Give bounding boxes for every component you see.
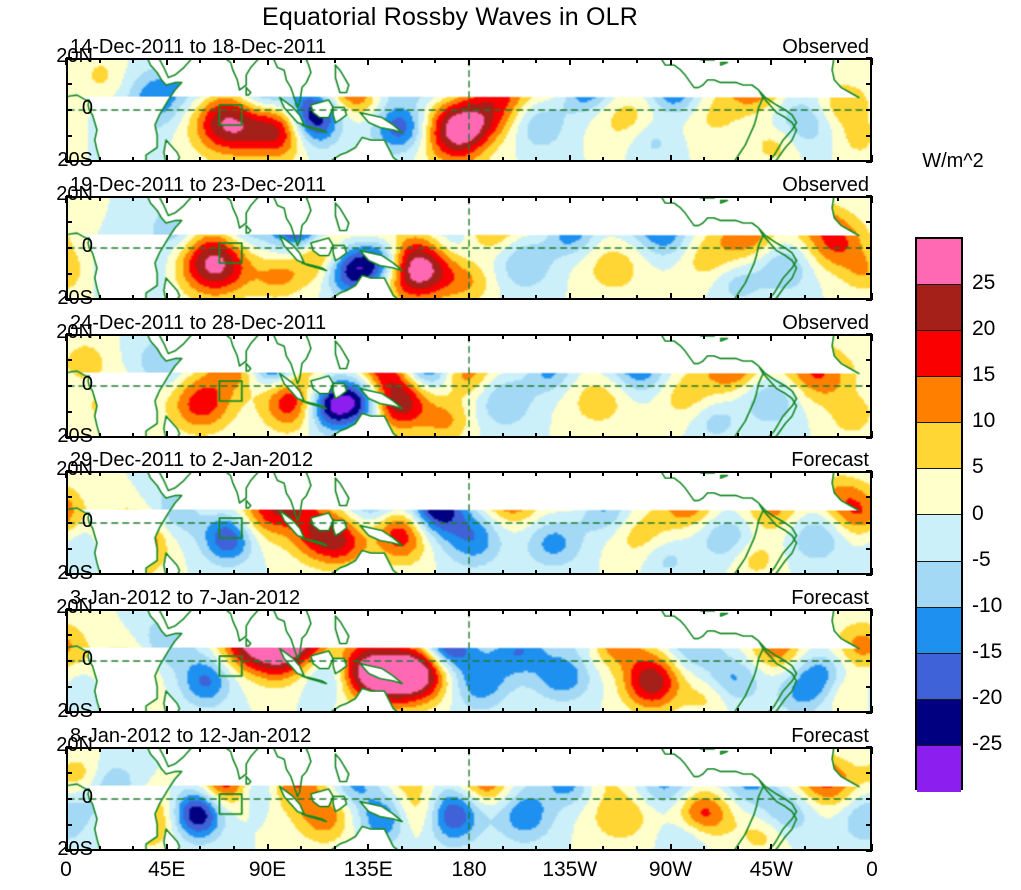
x-tickmark [166,293,168,300]
x-tickmark [267,747,269,754]
panel-period-label-6: 8-Jan-2012 to 12-Jan-2012 [70,725,311,748]
y-tickmark [66,496,72,498]
x-tickmark [434,609,436,614]
x-tickmark [502,609,504,614]
x-tickmark [468,431,470,438]
x-tickmark [434,846,436,851]
x-tickmark [132,295,134,300]
y-tickmark [866,660,872,662]
x-axis-label-135W: 135W [542,858,597,882]
panel-period-label-3: 24-Dec-2011 to 28-Dec-2011 [70,312,326,335]
x-tickmark [367,568,369,575]
x-tickmark [871,471,873,478]
x-tickmark [770,568,772,575]
y-tickmark [66,273,72,275]
x-tickmark [401,471,403,476]
x-tickmark [434,334,436,339]
x-tickmark [871,747,873,754]
y-axis-label-20S: 20S [33,425,93,448]
x-tickmark [569,58,571,65]
x-tickmark [670,609,672,616]
x-tickmark [166,196,168,203]
y-tickmark [866,135,872,137]
x-tickmark [871,58,873,65]
x-tickmark [770,471,772,478]
colorbar-label-15: 15 [972,363,995,387]
x-tickmark [535,708,537,713]
x-axis-label-45W: 45W [750,858,793,882]
y-axis-label-0: 0 [33,648,93,671]
colorbar [915,237,963,790]
colorbar-label-5: 5 [972,455,984,479]
x-tickmark [502,433,504,438]
x-tickmark [770,431,772,438]
x-tickmark [737,433,739,438]
colorbar-band-9 [917,654,961,700]
x-tickmark [703,846,705,851]
olr-anomaly-field-6 [68,749,870,849]
y-tickmark [866,221,872,223]
x-tickmark [334,570,336,575]
x-tickmark [267,293,269,300]
colorbar-label--15: -15 [972,640,1002,664]
olr-anomaly-field-2 [68,198,870,298]
x-tickmark [871,609,873,616]
x-tickmark [434,295,436,300]
x-tickmark [233,708,235,713]
y-axis-label-20S: 20S [33,562,93,585]
x-tickmark [569,568,571,575]
x-tickmark [267,471,269,478]
y-axis-label-0: 0 [33,786,93,809]
x-tickmark [636,471,638,476]
colorbar-label--10: -10 [972,594,1002,618]
x-tickmark [871,431,873,438]
x-tickmark [166,431,168,438]
map-panel-3 [66,334,872,438]
x-tickmark [703,196,705,201]
colorbar-units-label: W/m^2 [898,150,1008,173]
x-tickmark [871,293,873,300]
x-tickmark [267,155,269,162]
x-tickmark [770,334,772,341]
x-tickmark [770,155,772,162]
x-tickmark [703,295,705,300]
x-tickmark [199,846,201,851]
x-tickmark [434,471,436,476]
x-tickmark [535,157,537,162]
x-tickmark [737,295,739,300]
x-tickmark [166,568,168,575]
x-tickmark [602,157,604,162]
y-tickmark [866,634,872,636]
x-tickmark [703,58,705,63]
x-tickmark [737,570,739,575]
x-tickmark [535,570,537,575]
y-axis-label-0: 0 [33,235,93,258]
x-tickmark [670,155,672,162]
x-tickmark [871,334,873,341]
x-axis-label-45E: 45E [148,858,185,882]
olr-anomaly-field-1 [68,60,870,160]
x-tickmark [300,433,302,438]
colorbar-band-5 [917,469,961,515]
x-tickmark [636,846,638,851]
x-tickmark [770,293,772,300]
x-tickmark [502,295,504,300]
x-tickmark [166,844,168,851]
x-tickmark [804,846,806,851]
x-tickmark [132,157,134,162]
y-tickmark [866,247,872,249]
x-tickmark [132,708,134,713]
x-tickmark [267,334,269,341]
x-tickmark [837,433,839,438]
y-tickmark [866,496,872,498]
x-tickmark [401,609,403,614]
x-tickmark [804,433,806,438]
x-tickmark [166,334,168,341]
x-tickmark [367,155,369,162]
colorbar-band-7 [917,562,961,608]
x-tickmark [837,157,839,162]
x-tickmark [367,706,369,713]
x-tickmark [233,433,235,438]
x-tickmark [199,570,201,575]
y-tickmark [866,273,872,275]
y-axis-label-0: 0 [33,97,93,120]
y-tickmark [66,824,72,826]
x-tickmark [166,609,168,616]
y-tickmark [866,686,872,688]
olr-anomaly-field-3 [68,336,870,436]
x-tickmark [871,155,873,162]
x-tickmark [300,295,302,300]
y-tickmark [866,411,872,413]
colorbar-band-10 [917,700,961,746]
y-axis-label-20S: 20S [33,149,93,172]
x-tickmark [434,157,436,162]
x-tickmark [535,846,537,851]
x-tickmark [468,334,470,341]
x-tickmark [434,570,436,575]
x-tickmark [267,58,269,65]
x-tickmark [468,844,470,851]
x-tickmark [535,58,537,63]
y-tickmark [866,359,872,361]
x-tickmark [166,58,168,65]
panel-status-label-6: Forecast [791,725,869,748]
x-tickmark [737,846,739,851]
x-axis-label-0: 0 [60,858,72,882]
colorbar-band-11 [917,746,961,792]
x-tickmark [670,747,672,754]
x-tickmark [670,568,672,575]
colorbar-band-6 [917,515,961,561]
x-tickmark [737,609,739,614]
x-tickmark [602,295,604,300]
x-tickmark [401,708,403,713]
panel-status-label-1: Observed [782,36,869,59]
x-tickmark [703,471,705,476]
x-tickmark [636,295,638,300]
x-axis-label-135E: 135E [344,858,393,882]
y-tickmark [66,411,72,413]
colorbar-band-0 [917,239,961,285]
y-tickmark [866,522,872,524]
panel-period-label-5: 3-Jan-2012 to 7-Jan-2012 [70,587,300,610]
x-tickmark [770,706,772,713]
x-tickmark [367,609,369,616]
x-tickmark [804,570,806,575]
x-tickmark [367,471,369,478]
map-panel-6 [66,747,872,851]
x-tickmark [636,708,638,713]
x-tickmark [804,157,806,162]
x-tickmark [569,334,571,341]
x-tickmark [233,295,235,300]
panel-status-label-4: Forecast [791,449,869,472]
x-tickmark [300,570,302,575]
x-tickmark [199,295,201,300]
x-tickmark [401,334,403,339]
x-tickmark [99,846,101,851]
x-tickmark [636,334,638,339]
x-tickmark [434,196,436,201]
x-tickmark [233,846,235,851]
x-tickmark [166,747,168,754]
x-tickmark [334,471,336,476]
x-tickmark [837,708,839,713]
x-tickmark [401,58,403,63]
x-tickmark [300,157,302,162]
x-tickmark [401,747,403,752]
x-tickmark [502,708,504,713]
x-tickmark [703,157,705,162]
colorbar-label--20: -20 [972,686,1002,710]
x-tickmark [300,846,302,851]
x-tickmark [334,708,336,713]
x-tickmark [401,846,403,851]
x-tickmark [99,433,101,438]
x-tickmark [602,334,604,339]
x-tickmark [334,846,336,851]
x-tickmark [569,844,571,851]
x-tickmark [334,58,336,63]
x-tickmark [502,846,504,851]
y-tickmark [66,634,72,636]
x-tickmark [670,431,672,438]
x-tickmark [367,334,369,341]
x-axis-label-180: 180 [451,858,486,882]
x-tickmark [535,747,537,752]
x-tickmark [737,196,739,201]
x-tickmark [267,706,269,713]
x-tickmark [166,471,168,478]
x-tickmark [737,471,739,476]
y-axis-label-20S: 20S [33,700,93,723]
y-tickmark [66,221,72,223]
panel-status-label-2: Observed [782,174,869,197]
x-tickmark [737,334,739,339]
x-tickmark [99,157,101,162]
x-tickmark [401,295,403,300]
olr-anomaly-field-5 [68,611,870,711]
x-tickmark [468,293,470,300]
x-tickmark [602,471,604,476]
x-tickmark [468,155,470,162]
x-tickmark [569,293,571,300]
x-tickmark [199,157,201,162]
colorbar-band-4 [917,423,961,469]
x-tickmark [166,706,168,713]
x-axis-label-0: 0 [866,858,878,882]
y-tickmark [866,385,872,387]
x-tickmark [871,706,873,713]
x-tickmark [300,609,302,614]
x-tickmark [569,471,571,478]
x-tickmark [502,570,504,575]
x-tickmark [703,609,705,614]
map-panel-4 [66,471,872,575]
x-tickmark [569,196,571,203]
x-tickmark [636,58,638,63]
y-tickmark [866,772,872,774]
x-tickmark [636,747,638,752]
x-tickmark [401,570,403,575]
x-tickmark [233,157,235,162]
x-tickmark [770,58,772,65]
x-tickmark [602,196,604,201]
x-tickmark [636,570,638,575]
x-tickmark [871,196,873,203]
x-tickmark [468,568,470,575]
x-tickmark [367,58,369,65]
x-tickmark [267,609,269,616]
x-tickmark [770,609,772,616]
x-tickmark [703,708,705,713]
y-tickmark [66,135,72,137]
x-tickmark [502,471,504,476]
x-tickmark [602,609,604,614]
x-tickmark [737,747,739,752]
panel-period-label-4: 29-Dec-2011 to 2-Jan-2012 [70,449,313,472]
x-tickmark [737,58,739,63]
x-tickmark [334,334,336,339]
x-tickmark [535,471,537,476]
x-tickmark [367,293,369,300]
y-tickmark [66,772,72,774]
colorbar-band-2 [917,331,961,377]
x-tickmark [99,570,101,575]
map-panel-2 [66,196,872,300]
x-tickmark [636,157,638,162]
x-tickmark [737,157,739,162]
panel-period-label-2: 19-Dec-2011 to 23-Dec-2011 [70,174,326,197]
x-tickmark [267,568,269,575]
x-tickmark [837,295,839,300]
x-tickmark [132,570,134,575]
y-tickmark [66,548,72,550]
x-tickmark [367,747,369,754]
x-tickmark [334,609,336,614]
x-tickmark [770,747,772,754]
y-tickmark [866,824,872,826]
x-tickmark [569,706,571,713]
x-tickmark [837,846,839,851]
x-tickmark [401,157,403,162]
x-tickmark [334,157,336,162]
x-tickmark [502,747,504,752]
map-panel-5 [66,609,872,713]
x-tickmark [535,295,537,300]
x-tickmark [871,568,873,575]
x-tickmark [871,844,873,851]
x-tickmark [502,58,504,63]
x-tickmark [199,433,201,438]
x-tickmark [535,609,537,614]
x-tickmark [334,196,336,201]
x-axis-label-90E: 90E [249,858,286,882]
olr-anomaly-field-4 [68,473,870,573]
x-tickmark [703,570,705,575]
x-tickmark [770,196,772,203]
x-tickmark [670,844,672,851]
y-axis-label-0: 0 [33,510,93,533]
x-tickmark [434,747,436,752]
x-tickmark [737,708,739,713]
x-tickmark [670,706,672,713]
x-axis-label-90W: 90W [649,858,692,882]
x-tickmark [535,196,537,201]
x-tickmark [703,334,705,339]
x-tickmark [300,708,302,713]
y-axis-label-0: 0 [33,373,93,396]
x-tickmark [569,747,571,754]
x-tickmark [670,196,672,203]
x-tickmark [569,609,571,616]
x-tickmark [334,433,336,438]
colorbar-label--5: -5 [972,548,991,572]
x-tickmark [535,433,537,438]
x-tickmark [434,433,436,438]
x-tickmark [233,570,235,575]
x-tickmark [703,433,705,438]
x-tickmark [468,706,470,713]
x-tickmark [670,471,672,478]
x-tickmark [670,334,672,341]
x-tickmark [602,708,604,713]
x-tickmark [602,58,604,63]
colorbar-band-1 [917,285,961,331]
x-tickmark [468,58,470,65]
x-tickmark [535,334,537,339]
colorbar-label--25: -25 [972,732,1002,756]
x-tickmark [602,433,604,438]
x-tickmark [837,570,839,575]
x-tickmark [703,747,705,752]
colorbar-label-25: 25 [972,271,995,295]
panel-period-label-1: 14-Dec-2011 to 18-Dec-2011 [70,36,326,59]
x-tickmark [132,433,134,438]
x-tickmark [434,708,436,713]
colorbar-label-10: 10 [972,409,995,433]
x-tickmark [670,58,672,65]
x-tickmark [569,155,571,162]
y-tickmark [66,686,72,688]
x-tickmark [770,844,772,851]
x-tickmark [636,196,638,201]
